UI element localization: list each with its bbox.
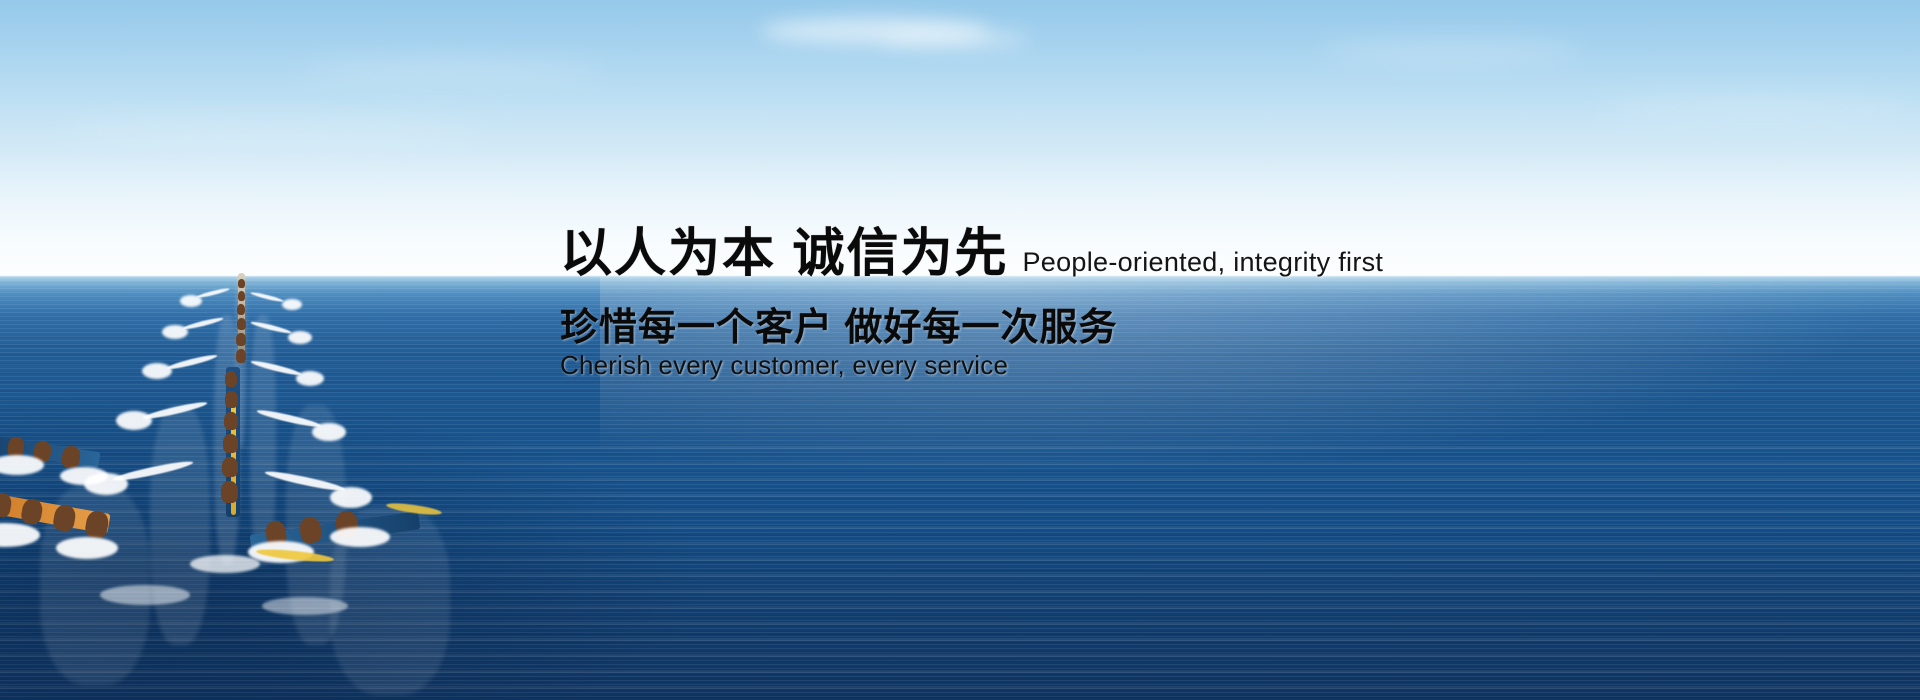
subhead-chinese: 珍惜每一个客户 做好每一次服务 <box>560 307 1118 349</box>
headline-english: People-oriented, integrity first <box>1022 249 1383 280</box>
subhead-chinese-row: 珍惜每一个客户 做好每一次服务 <box>560 305 1118 353</box>
subhead-english: Cherish every customer, every service <box>560 350 1008 380</box>
hero-banner: 以人为本 诚信为先 People-oriented, integrity fir… <box>0 0 1920 700</box>
banner-copy: 以人为本 诚信为先 People-oriented, integrity fir… <box>0 0 1920 700</box>
subhead-english-row: Cherish every customer, every service <box>560 350 1008 381</box>
headline-row: 以人为本 诚信为先 People-oriented, integrity fir… <box>560 228 1383 280</box>
headline-chinese: 以人为本 诚信为先 <box>560 228 1008 280</box>
